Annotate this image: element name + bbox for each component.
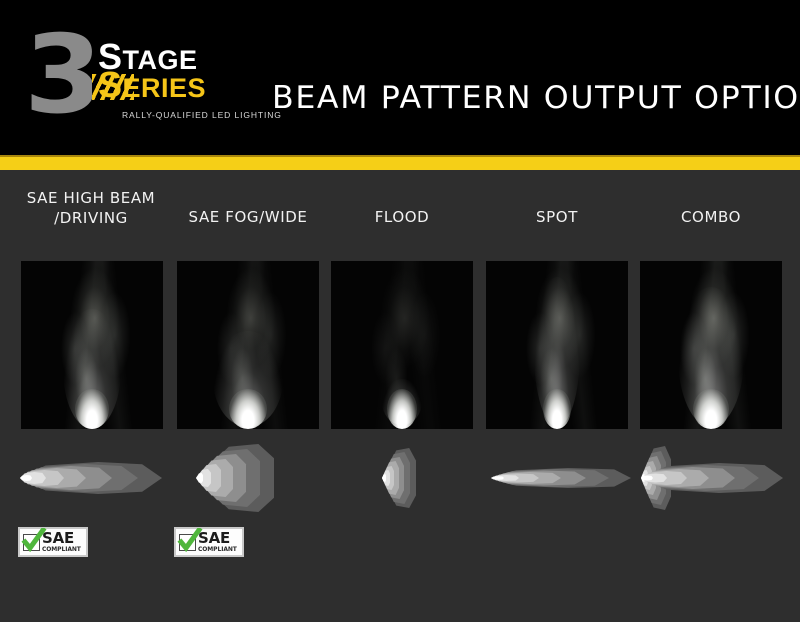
beam-layer-6: [491, 476, 504, 480]
sae-compliant-badge-sae-fog-wide: SAECOMPLIANT: [174, 527, 244, 557]
yellow-divider-bar: [0, 157, 800, 170]
photo-hotspot: [75, 389, 109, 429]
beam-diagram-sae-high-beam-driving: [12, 442, 172, 514]
column-labels-row: SAE HIGH BEAM/DRIVINGSAE FOG/WIDEFLOODSP…: [0, 188, 800, 246]
beam-photo-flood: [331, 261, 473, 429]
badge-title: SAE: [42, 531, 81, 546]
label-line-1: COMBO: [616, 207, 800, 227]
logo-tagline: RALLY-QUALIFIED LED LIGHTING: [122, 110, 282, 120]
badge-text-group: SAECOMPLIANT: [42, 531, 81, 553]
page-title: BEAM PATTERN OUTPUT OPTIONS: [272, 80, 800, 116]
logo-numeral-3: 3: [24, 22, 99, 130]
badge-subtitle: COMPLIANT: [198, 547, 237, 553]
sae-compliant-badge-sae-high-beam-driving: SAECOMPLIANT: [18, 527, 88, 557]
checkbox-icon: [179, 534, 196, 551]
beam-layer-6: [196, 473, 203, 483]
badge-title: SAE: [198, 531, 237, 546]
beam-diagram-combo: [631, 442, 791, 514]
logo-wordmark: STAGE SERIES RALLY-QUALIFIED LED LIGHTIN…: [98, 42, 258, 128]
checkbox-icon: [23, 534, 40, 551]
beam-photo-sae-fog-wide: [177, 261, 319, 429]
diode-dynamics-stage-series-logo: 3 STAGE SERIES RALLY-QUALIFIED LED LIGHT…: [24, 26, 254, 134]
logo-word-series: SERIES: [98, 68, 206, 105]
beam-diagram-flood: [322, 442, 482, 514]
photo-hotspot: [387, 389, 417, 429]
badge-subtitle: COMPLIANT: [42, 547, 81, 553]
photo-hotspot: [543, 389, 571, 429]
beam-photo-combo: [640, 261, 782, 429]
beam-layer-6: [382, 474, 386, 482]
beam-photo-spot: [486, 261, 628, 429]
beam-layer-6: [20, 475, 32, 481]
badge-text-group: SAECOMPLIANT: [198, 531, 237, 553]
beam-pattern-output-options-page: 3 STAGE SERIES RALLY-QUALIFIED LED LIGHT…: [0, 0, 800, 622]
label-line-1: SAE HIGH BEAM: [0, 188, 186, 208]
photo-hotspot: [693, 389, 729, 429]
logo-series-group: SERIES: [92, 70, 262, 106]
beam-photo-sae-high-beam-driving: [21, 261, 163, 429]
photo-hotspot: [229, 389, 267, 429]
header-bar: 3 STAGE SERIES RALLY-QUALIFIED LED LIGHT…: [0, 0, 800, 157]
beam-diagram-sae-fog-wide: [168, 442, 328, 514]
column-label-combo: COMBO: [616, 207, 800, 227]
beam-diagram-spot: [477, 442, 637, 514]
